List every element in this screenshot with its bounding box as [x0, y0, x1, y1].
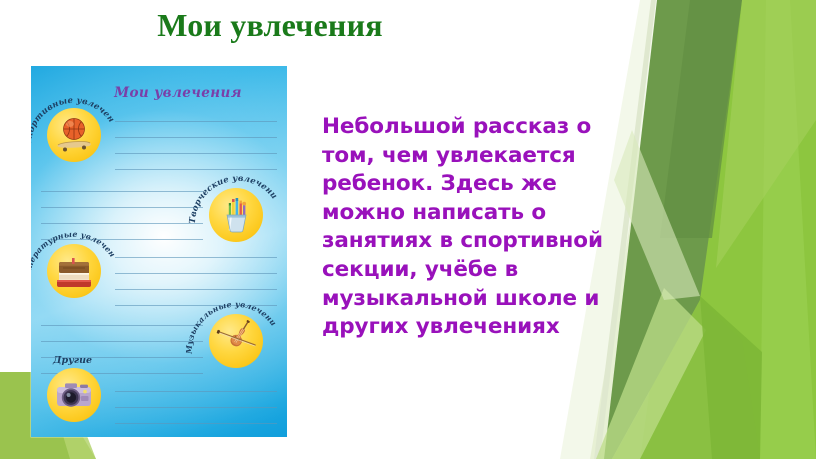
violin-icon	[209, 314, 263, 368]
worksheet-card-image: Мои увлечения	[31, 66, 287, 437]
badge-sport: Спортивные увлечения	[47, 108, 101, 162]
slide-canvas: Мои увлечения Мои увлечения	[0, 0, 816, 459]
facet-shape-far-right	[700, 0, 816, 459]
basketball-skateboard-icon	[47, 108, 101, 162]
books-icon	[47, 244, 101, 298]
writing-line	[115, 169, 277, 170]
badge-caption-other: Другие	[53, 355, 92, 366]
facet-shape-far-right-2	[690, 0, 816, 459]
facet-shape-overlay-pale-4	[700, 296, 762, 459]
camera-icon	[47, 368, 101, 422]
writing-line	[115, 153, 277, 154]
writing-line	[41, 223, 203, 224]
writing-line	[115, 273, 277, 274]
badge-literature: Литературные увлечения	[47, 244, 101, 298]
writing-line	[41, 341, 203, 342]
description-text: Небольшой рассказ о том, чем увлекается …	[322, 113, 642, 342]
facet-shape-mid-bright	[640, 0, 766, 459]
badge-other: Другие	[47, 368, 101, 422]
writing-line	[115, 289, 277, 290]
facet-shape-overlay-light	[716, 0, 816, 268]
facet-shape-dark-band-2	[660, 0, 742, 238]
writing-line	[115, 137, 277, 138]
writing-line	[115, 391, 277, 392]
badge-music: Музыкальные увлечения	[209, 314, 263, 368]
writing-line	[41, 207, 203, 208]
page-title: Мои увлечения	[0, 6, 540, 44]
writing-line	[115, 423, 277, 424]
writing-line	[115, 257, 277, 258]
writing-line	[115, 121, 277, 122]
writing-line	[41, 325, 203, 326]
worksheet-title: Мои увлечения	[31, 85, 287, 101]
writing-line	[41, 191, 203, 192]
writing-line	[41, 239, 203, 240]
writing-line	[115, 305, 277, 306]
brush-cup-icon	[209, 188, 263, 242]
badge-creative: Творческие увлечения	[209, 188, 263, 242]
writing-line	[115, 407, 277, 408]
